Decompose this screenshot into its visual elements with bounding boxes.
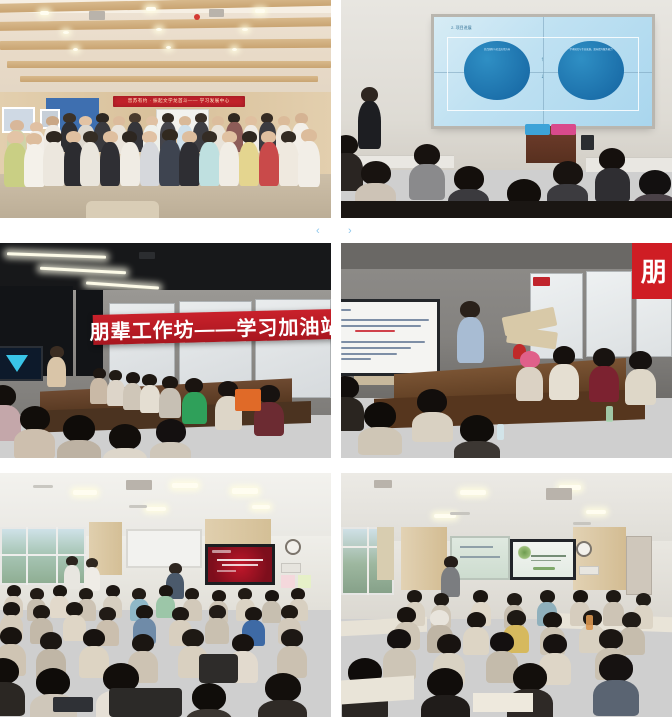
leaf-decoration	[518, 545, 531, 559]
door	[626, 536, 652, 595]
event-banner: 晋苏有约 · 振起文学龙首斗—— 学习发展中心	[113, 96, 245, 107]
red-banner-character: 朋	[632, 243, 672, 299]
board-logo	[533, 277, 550, 286]
desk-foreground	[473, 693, 533, 713]
slide-title: 2. 项目进展	[451, 25, 471, 31]
presentation-screen	[205, 544, 275, 585]
gallery-photo-1[interactable]: 晋苏有约 · 振起文学龙首斗—— 学习发展中心	[0, 0, 331, 218]
gallery-photo-3[interactable]: 朋辈工作坊——学习加油站	[0, 243, 331, 458]
water-bottle	[606, 406, 613, 422]
ceiling-fan	[573, 522, 591, 525]
tablet-device	[53, 697, 93, 712]
photo-gallery-grid: 晋苏有约 · 振起文学龙首斗—— 学习发展中心	[0, 0, 672, 717]
notice-board	[586, 271, 632, 357]
ceiling-fan	[129, 505, 147, 508]
ceiling	[0, 0, 331, 100]
workshop-banner: 朋辈工作坊——学习加油站	[92, 309, 331, 345]
gallery-photo-5[interactable]	[0, 473, 331, 717]
equipment-box	[581, 135, 594, 150]
red-vertical-banner: 朋	[632, 243, 672, 299]
water-bottle	[497, 424, 504, 440]
ceiling-fan	[33, 485, 53, 488]
wall-panel	[281, 563, 301, 573]
slide-bubble-right: 学术研究与专业发展，双向提升服务能力	[558, 41, 624, 100]
wall-clock	[285, 539, 301, 555]
carousel-next-arrow[interactable]: ›	[348, 226, 352, 237]
foreground-table	[86, 201, 159, 218]
chair	[109, 688, 182, 717]
carousel-prev-arrow[interactable]: ‹	[316, 226, 320, 237]
podium-badge-right	[551, 124, 576, 135]
event-banner-text: 晋苏有约 · 振起文学龙首斗—— 学习发展中心	[113, 96, 245, 107]
desk-foreground	[341, 675, 414, 704]
curtain	[377, 527, 394, 581]
thermos	[586, 615, 593, 630]
display-screen	[0, 346, 43, 380]
presentation-screen	[510, 539, 576, 580]
ceiling-fan	[450, 512, 470, 515]
gallery-photo-2[interactable]: 2. 项目进展 综合国际与社会应用方向 学术研究与专业发展，双向提升服务能力 ↑…	[341, 0, 672, 218]
orange-chair	[235, 389, 261, 411]
podium-badge-left	[525, 124, 550, 135]
chair	[199, 654, 239, 683]
whiteboard	[126, 529, 202, 568]
led-video-wall: 2. 项目进展 综合国际与社会应用方向 学术研究与专业发展，双向提升服务能力 ↑…	[434, 17, 652, 126]
workshop-banner-text: 朋辈工作坊——学习加油站	[92, 309, 331, 345]
slide-bubble-left: 综合国际与社会应用方向	[464, 41, 530, 100]
poster	[298, 575, 311, 587]
red-ceiling-dot	[194, 14, 200, 20]
presentation-screen	[341, 299, 440, 376]
poster	[281, 575, 294, 587]
gallery-photo-6[interactable]	[341, 473, 672, 717]
gallery-photo-4[interactable]: 朋	[341, 243, 672, 458]
wall-panel	[579, 566, 599, 576]
